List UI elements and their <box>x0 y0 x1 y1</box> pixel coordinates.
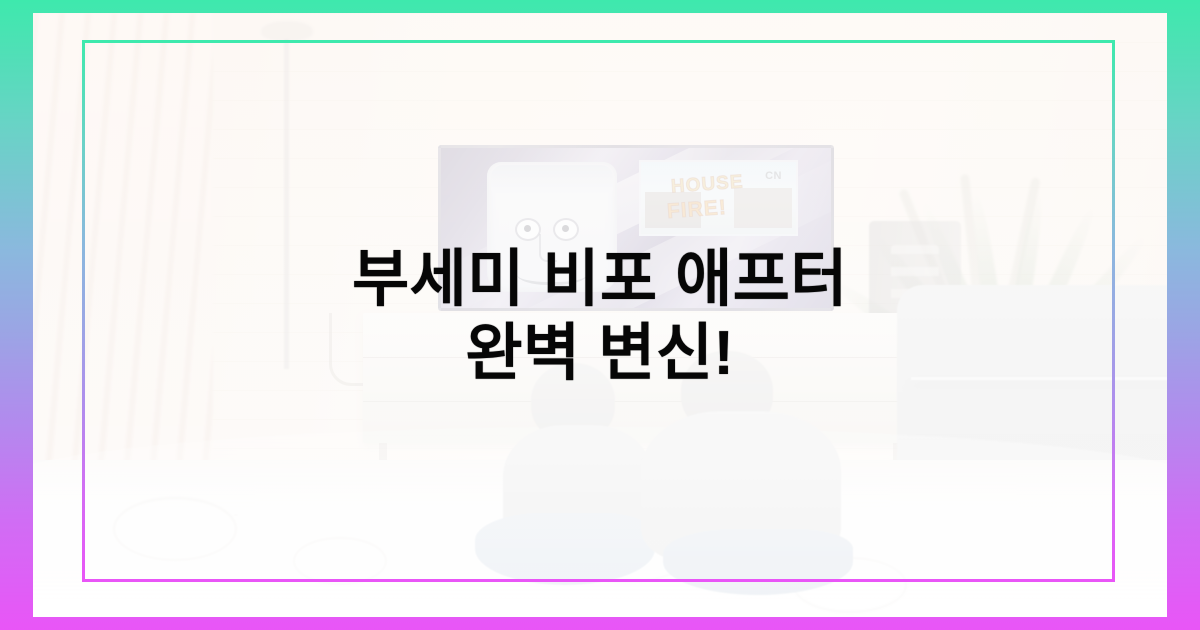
tv-inset-graphic: HOUSE FIRE! CN <box>639 160 798 236</box>
background-photo: HOUSE FIRE! CN <box>33 13 1167 617</box>
television-screen: HOUSE FIRE! CN <box>438 145 834 311</box>
thumbnail-card: HOUSE FIRE! CN <box>0 0 1200 630</box>
channel-logo: CN <box>765 170 782 182</box>
floor-lamp-shade <box>261 21 313 41</box>
inset-word-bottom: FIRE! <box>666 196 727 224</box>
photo-scene: HOUSE FIRE! CN <box>33 13 1167 617</box>
tv-cable <box>329 313 366 386</box>
kid-right <box>633 351 863 591</box>
cartoon-character <box>487 162 617 292</box>
floor-lamp-pole <box>284 39 289 369</box>
